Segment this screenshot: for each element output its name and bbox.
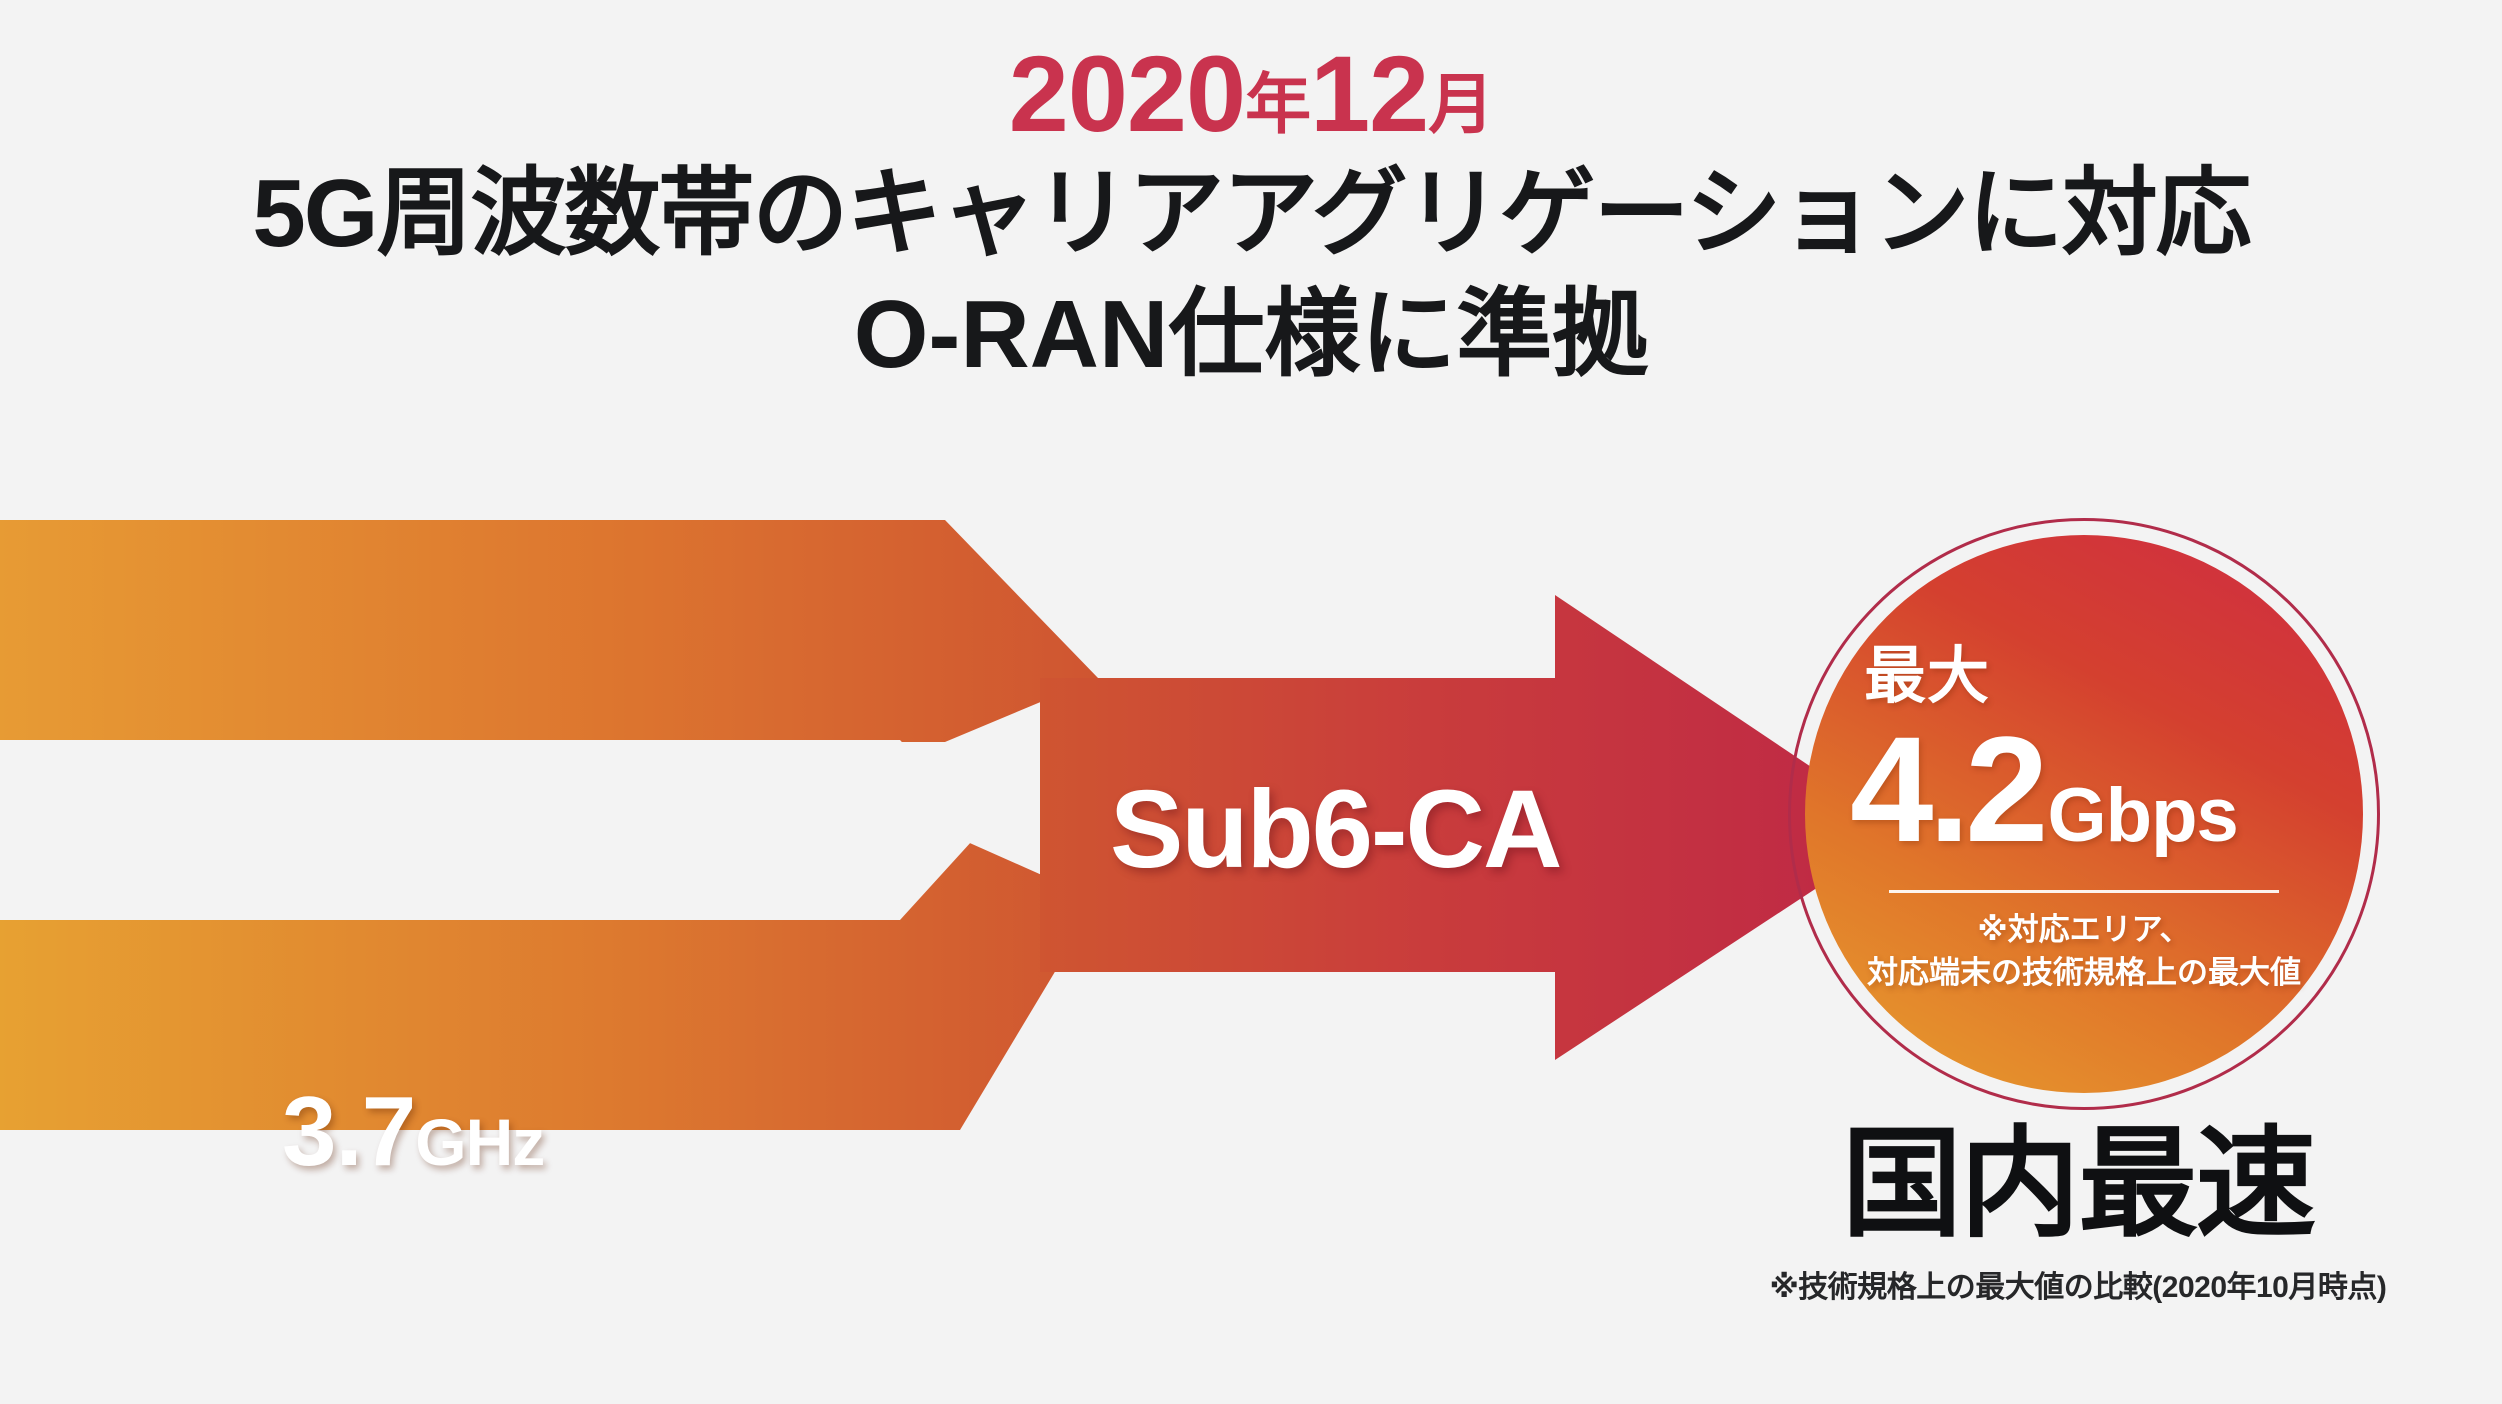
band-separator-notch [0, 740, 982, 920]
arrow-label-sub6-ca: Sub6-CA [1110, 766, 1560, 893]
release-date: 2020年12月 [0, 34, 2502, 155]
claim-footnote: ※技術規格上の最大値の比較(2020年10月時点) [1748, 1262, 2408, 1306]
release-date-year-suffix: 年 [1245, 67, 1310, 141]
band-shape-upper [0, 520, 1098, 742]
headline-line-2: O-RAN仕様に準拠 [0, 276, 2502, 393]
band-label-3-7ghz: 3.7GHz [282, 1075, 544, 1188]
claim-title: 国内最速 [1748, 1124, 2408, 1244]
release-date-month: 12 [1310, 33, 1428, 154]
badge-value-number: 4.2 [1850, 714, 2044, 864]
badge-sub-label: 最大 [1864, 646, 1990, 708]
release-date-year: 2020 [1009, 33, 1245, 154]
badge-value-unit: Gbps [2048, 778, 2238, 854]
badge-content: 最大 4.2 Gbps ※対応エリア、 対応端末の技術規格上の最大値 [1788, 518, 2380, 1110]
headline-block: 2020年12月 5G周波数帯のキャリアアグリゲーションに対応 O-RAN仕様に… [0, 34, 2502, 393]
badge-footnote: ※対応エリア、 対応端末の技術規格上の最大値 [1867, 909, 2301, 995]
badge-value-group: 4.2 Gbps [1850, 714, 2238, 864]
release-date-month-suffix: 月 [1428, 67, 1493, 141]
badge-footnote-line-1: ※対応エリア、 [1867, 909, 2301, 952]
band-unit-3-7: GHz [415, 1105, 544, 1179]
badge-footnote-line-2: 対応端末の技術規格上の最大値 [1867, 952, 2301, 995]
slide-root: 2020年12月 5G周波数帯のキャリアアグリゲーションに対応 O-RAN仕様に… [0, 0, 2502, 1404]
badge-divider [1889, 890, 2279, 893]
speed-badge: 最大 4.2 Gbps ※対応エリア、 対応端末の技術規格上の最大値 [1788, 518, 2380, 1110]
headline-line-1: 5G周波数帯のキャリアアグリゲーションに対応 [0, 155, 2502, 272]
band-value-3-7: 3.7 [282, 1076, 415, 1186]
claim-block: 国内最速 ※技術規格上の最大値の比較(2020年10月時点) [1748, 1124, 2408, 1306]
